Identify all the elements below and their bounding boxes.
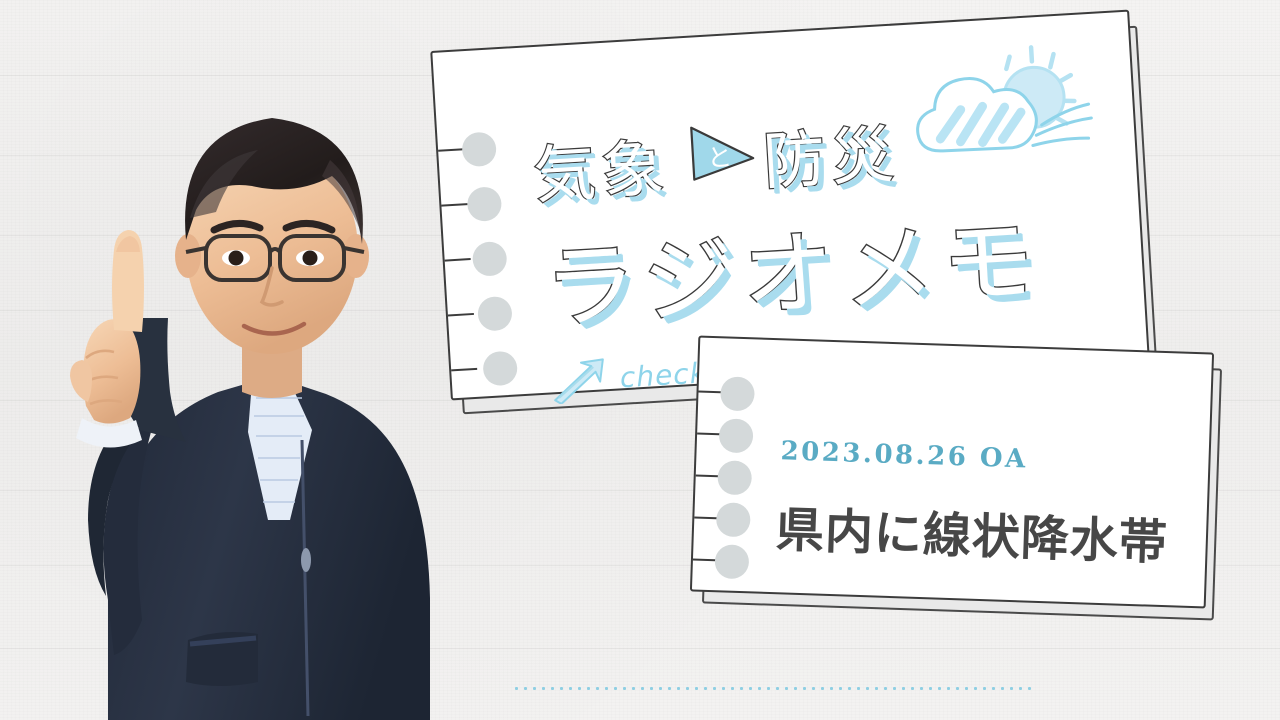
punch-hole [719, 418, 754, 453]
punch-hole [714, 544, 749, 579]
title-line1-part2: 防災 [760, 104, 901, 202]
arrow-up-right-icon [547, 355, 612, 405]
punch-hole [716, 502, 751, 537]
episode-headline: 県内に線状降水帯 [775, 490, 1169, 573]
broadcast-date-label: 2023.08.26 OA [780, 436, 1028, 474]
check-label: check [619, 356, 708, 394]
to-character: と [706, 137, 733, 174]
screen-canvas: 気象 と 防災 ラジオメモ check [0, 0, 1280, 720]
episode-card: 2023.08.26 OA 県内に線状降水帯 [690, 336, 1214, 609]
dotted-divider [512, 686, 1032, 691]
punch-hole [466, 186, 502, 222]
punch-hole [461, 131, 497, 167]
title-line1-part1: 気象 [531, 117, 672, 215]
punch-hole [717, 460, 752, 495]
title-line2: ラジオメモ [540, 185, 1045, 347]
presenter-illustration [0, 0, 460, 720]
to-triangle-badge: と [685, 118, 759, 184]
punch-hole [720, 376, 755, 411]
punch-hole [477, 296, 513, 332]
punch-hole [472, 241, 508, 277]
presenter-photo [0, 0, 460, 720]
sun-behind-cloud-wind-icon [891, 38, 1099, 190]
episode-card-punch-holes [692, 338, 770, 592]
punch-hole [482, 350, 518, 386]
